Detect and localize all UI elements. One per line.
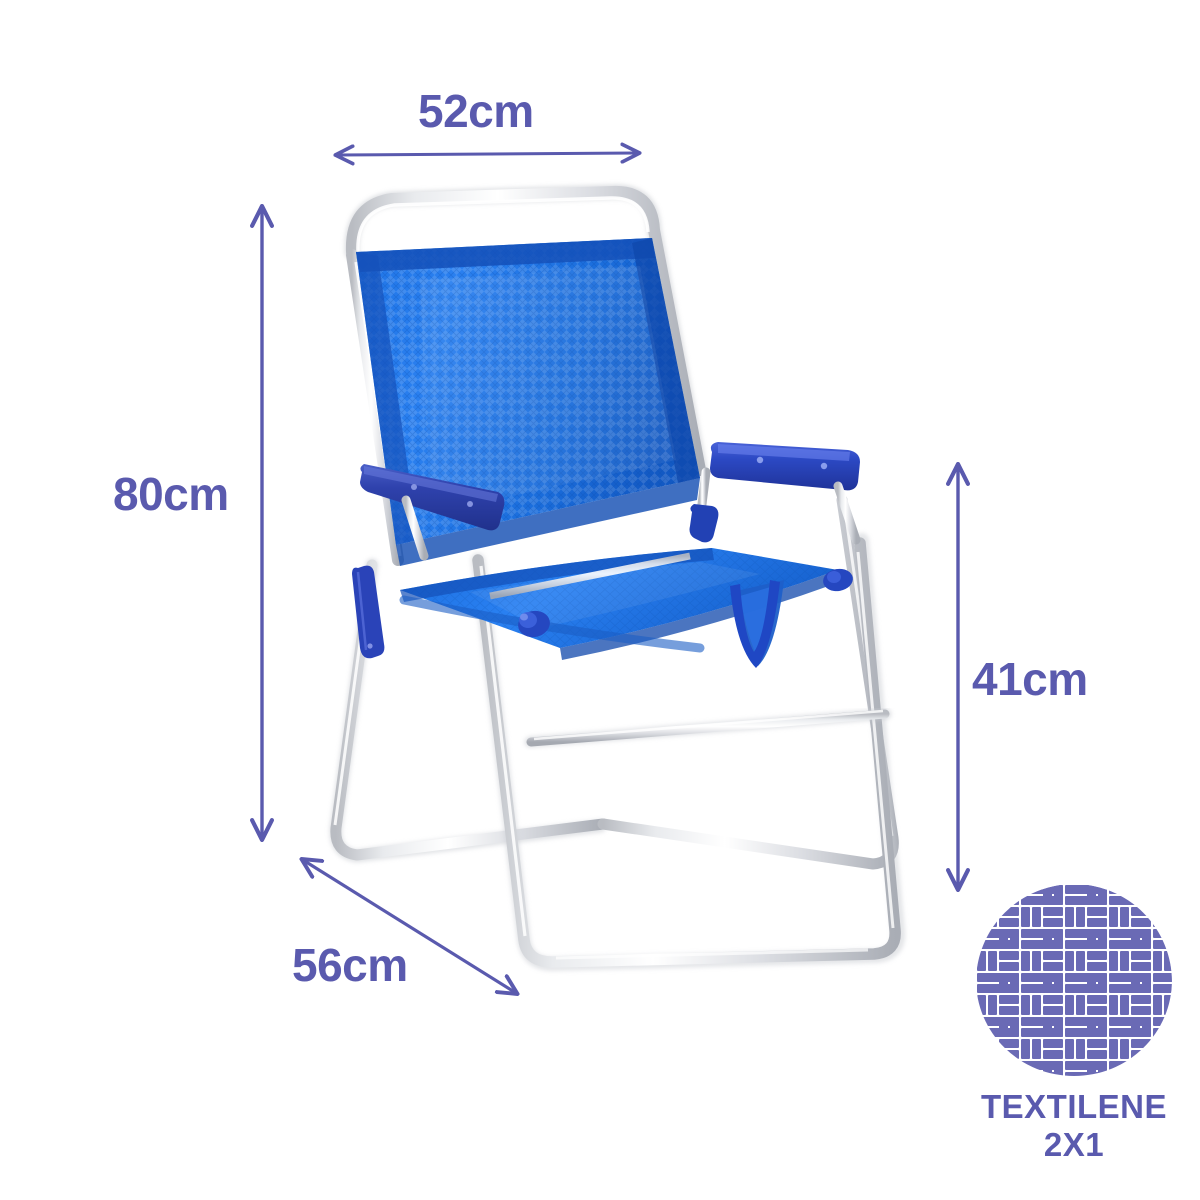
product-dimension-diagram: 52cm 80cm 41cm 56cm <box>0 0 1200 1200</box>
dimension-label-seat-height: 41cm <box>972 652 1088 706</box>
badge-material-spec: 2X1 <box>1044 1127 1104 1164</box>
dimension-label-depth: 56cm <box>292 938 408 992</box>
textilene-badge: TEXTILENE 2X1 <box>968 884 1180 1164</box>
dimension-label-height: 80cm <box>113 467 229 521</box>
dimension-line-width <box>337 153 638 155</box>
badge-material-name: TEXTILENE <box>981 1089 1167 1126</box>
dimension-label-width: 52cm <box>418 84 534 138</box>
basketweave-pattern-icon <box>976 884 1172 1076</box>
